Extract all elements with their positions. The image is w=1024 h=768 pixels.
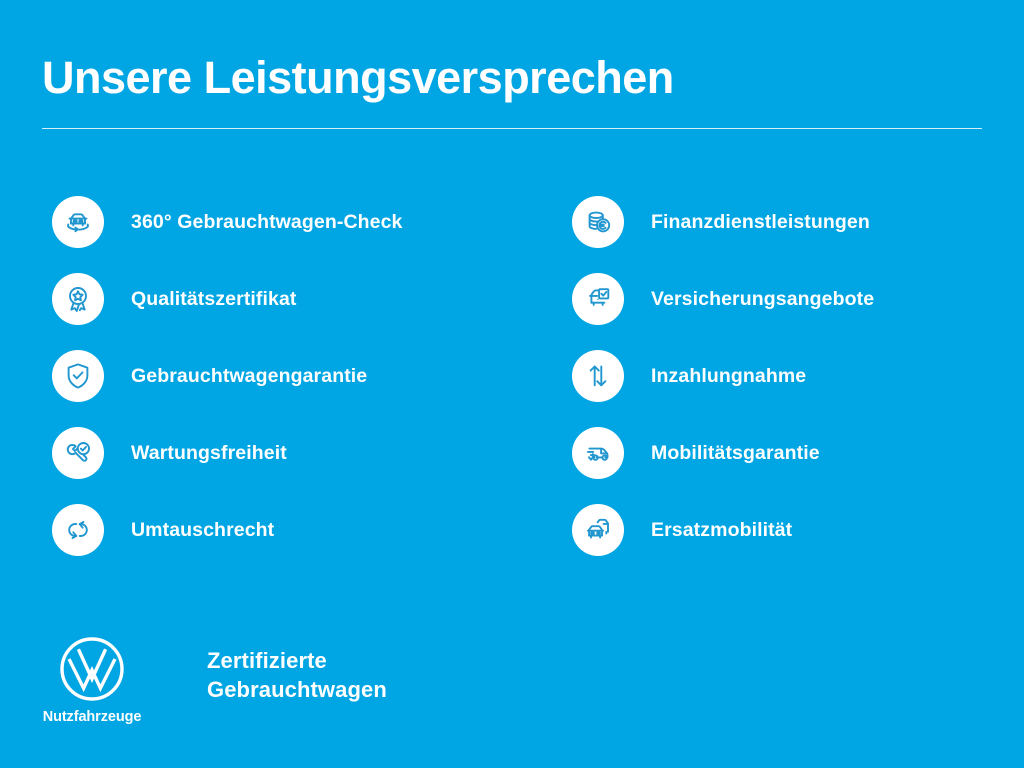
feature-column-right: Finanzdienstleistungen Versicherungsange… [0,196,1024,556]
feature-label: Versicherungsangebote [651,288,874,311]
page-title: Unsere Leistungsversprechen [42,50,982,106]
coins-euro-icon [572,196,624,248]
header: Unsere Leistungsversprechen [42,50,982,129]
brand-mark: Nutzfahrzeuge [40,636,144,725]
feature-item-ersatzmobilitaet[interactable]: Ersatzmobilität [572,504,1024,556]
brand-claim-line1: Zertifizierte [207,646,387,675]
feature-item-inzahlungnahme[interactable]: Inzahlungnahme [572,350,1024,402]
feature-item-mobilitaetsgarantie[interactable]: Mobilitätsgarantie [572,427,1024,479]
brand-claim: Zertifizierte Gebrauchtwagen [207,646,387,704]
feature-label: Inzahlungnahme [651,365,806,388]
brand-lockup: Nutzfahrzeuge Zertifizierte Gebrauchtwag… [40,636,387,725]
two-cars-icon [572,504,624,556]
feature-label: Mobilitätsgarantie [651,442,820,465]
van-checklist-icon [572,273,624,325]
up-down-arrows-icon [572,350,624,402]
feature-item-versicherungsangebote[interactable]: Versicherungsangebote [572,273,1024,325]
feature-label: Ersatzmobilität [651,519,792,542]
slide-root: Unsere Leistungsversprechen [0,0,1024,768]
feature-item-finanzdienstleistungen[interactable]: Finanzdienstleistungen [572,196,1024,248]
brand-sub-label: Nutzfahrzeuge [43,709,142,725]
feature-label: Finanzdienstleistungen [651,211,870,234]
title-divider [42,128,982,129]
vw-logo-icon [59,636,125,702]
features-section: 360° Gebrauchtwagen-Check Qualitätszerti… [0,196,1024,556]
brand-claim-line2: Gebrauchtwagen [207,675,387,704]
van-motion-check-icon [572,427,624,479]
